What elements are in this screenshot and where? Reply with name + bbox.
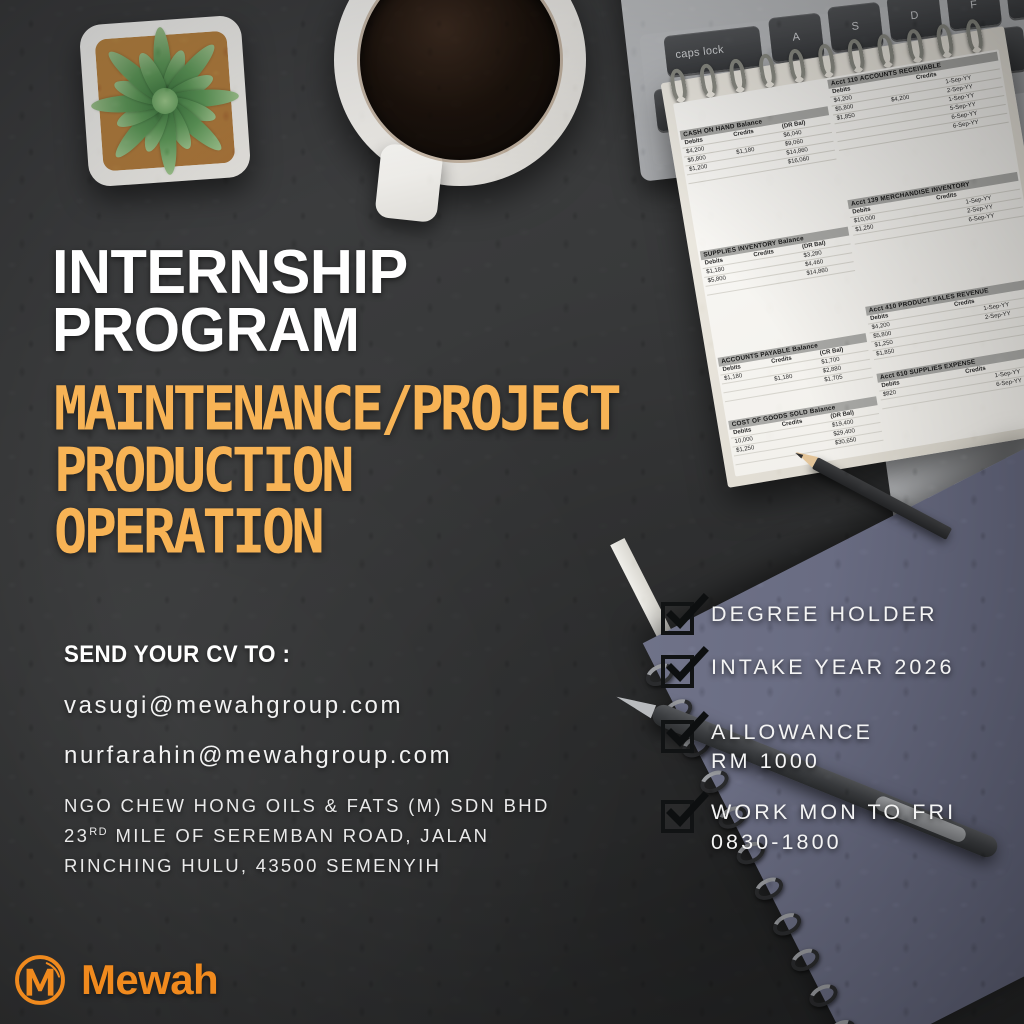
role-line-3: OPERATION <box>54 501 618 563</box>
ledger-account-block: CASH ON HAND BalanceDebitsCredits(DR Bal… <box>680 106 837 184</box>
role-list: MAINTENANCE/PROJECT PRODUCTION OPERATION <box>54 378 618 563</box>
checkmark-icon <box>667 649 707 683</box>
page-title: INTERNSHIP PROGRAM <box>52 244 408 359</box>
checkmark-icon <box>667 714 707 748</box>
brand-name: Mewah <box>81 956 218 1004</box>
checklist-item[interactable]: ALLOWANCERM 1000 <box>661 718 1021 776</box>
spiral-notepad: CASH ON HAND BalanceDebitsCredits(DR Bal… <box>661 26 1024 488</box>
ledger-account-block: SUPPLIES INVENTORY BalanceDebitsCredits(… <box>700 227 855 296</box>
checklist-item[interactable]: WORK MON TO FRI0830-1800 <box>661 798 1021 856</box>
checklist-label: INTAKE YEAR 2026 <box>711 653 955 682</box>
address-line-1: NGO CHEW HONG OILS & FATS (M) SDN BHD <box>64 791 550 821</box>
checklist-label: WORK MON TO FRI0830-1800 <box>711 798 956 856</box>
succulent-plant-pot <box>79 15 252 188</box>
mewah-m-circle-logo-icon <box>12 952 68 1008</box>
email-address-2[interactable]: nurfarahin@mewahgroup.com <box>64 742 452 770</box>
coffee-liquid <box>360 0 560 160</box>
notebook-coil <box>824 1016 860 1024</box>
notebook-coil <box>751 873 787 904</box>
checkmark-icon <box>667 794 707 828</box>
checklist-item[interactable]: INTAKE YEAR 2026 <box>661 653 1021 688</box>
pen-tip <box>614 690 656 718</box>
ledger-account-block: Acct 410 PRODUCT SALES REVENUEDebitsCred… <box>865 278 1024 360</box>
address-mile-number: 23 <box>64 825 89 846</box>
company-address: NGO CHEW HONG OILS & FATS (M) SDN BHD 23… <box>64 791 550 881</box>
coffee-cup <box>334 0 586 186</box>
brand-logo: Mewah <box>12 952 218 1008</box>
checklist-label-line-1: WORK MON TO FRI <box>711 798 956 827</box>
checkbox-checked-icon[interactable] <box>661 655 694 688</box>
checkbox-checked-icon[interactable] <box>661 720 694 753</box>
ledger-account-block: Acct 139 MERCHANDISE INVENTORYDebitsCred… <box>847 172 1024 245</box>
ledger-sheet: CASH ON HAND BalanceDebitsCredits(DR Bal… <box>673 49 1024 476</box>
checkbox-checked-icon[interactable] <box>661 602 694 635</box>
notebook-coil <box>787 944 823 975</box>
title-line-2: PROGRAM <box>52 302 408 360</box>
role-line-1: MAINTENANCE/PROJECT <box>54 378 618 440</box>
checklist-item[interactable]: DEGREE HOLDER <box>661 600 1021 635</box>
internship-poster: caps lock A S D F G shift X C V CASH ON … <box>0 0 1024 1024</box>
checklist-label-line-1: DEGREE HOLDER <box>711 600 938 629</box>
checkbox-checked-icon[interactable] <box>661 800 694 833</box>
title-line-1: INTERNSHIP <box>52 244 408 302</box>
checklist-label: DEGREE HOLDER <box>711 600 938 629</box>
requirements-checklist: DEGREE HOLDERINTAKE YEAR 2026ALLOWANCERM… <box>661 600 1021 875</box>
send-cv-heading: SEND YOUR CV TO : <box>64 641 290 669</box>
address-line-3: RINCHING HULU, 43500 SEMENYIH <box>64 851 550 881</box>
role-line-2: PRODUCTION <box>54 440 618 502</box>
address-ordinal-suffix: RD <box>89 826 108 838</box>
address-line-2: 23RD MILE OF SEREMBAN ROAD, JALAN <box>64 821 550 851</box>
checklist-label-line-2: RM 1000 <box>711 747 873 776</box>
key-g: G <box>1005 0 1024 19</box>
email-address-1[interactable]: vasugi@mewahgroup.com <box>64 692 403 720</box>
checklist-label: ALLOWANCERM 1000 <box>711 718 873 776</box>
checklist-label-line-1: ALLOWANCE <box>711 718 873 747</box>
checklist-label-line-2: 0830-1800 <box>711 828 956 857</box>
succulent-leaves <box>79 15 241 26</box>
ledger-account-block: ACCOUNTS PAYABLE BalanceDebitsCredits(CR… <box>718 333 873 402</box>
notebook-coil <box>806 980 842 1011</box>
address-road: MILE OF SEREMBAN ROAD, JALAN <box>108 825 489 846</box>
checklist-label-line-1: INTAKE YEAR 2026 <box>711 653 955 682</box>
checkmark-icon <box>667 596 707 630</box>
notebook-coil <box>769 909 805 940</box>
